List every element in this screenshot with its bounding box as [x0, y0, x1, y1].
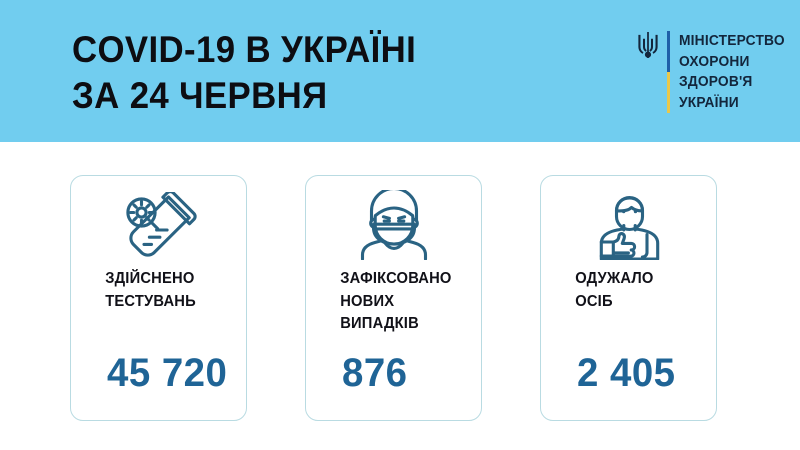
stat-cards-container: ЗДІЙСНЕНО ТЕСТУВАНЬ 45 720 — [0, 175, 800, 421]
ministry-logo: МІНІСТЕРСТВО ОХОРОНИ ЗДОРОВ'Я УКРАЇНИ — [637, 31, 790, 115]
ministry-logo-line-3: ЗДОРОВ'Я — [679, 72, 785, 93]
stat-card-tests-performed: ЗДІЙСНЕНО ТЕСТУВАНЬ 45 720 — [70, 175, 247, 421]
person-thumbs-up-icon — [541, 176, 716, 268]
test-tube-magnifier-virus-icon — [71, 176, 246, 268]
stat-label-line-1: ЗДІЙСНЕНО — [105, 268, 196, 291]
ministry-logo-line-1: МІНІСТЕРСТВО — [679, 31, 785, 52]
stat-card-label: ЗАФІКСОВАНО НОВИХ ВИПАДКІВ — [306, 268, 452, 336]
stat-label-line-2: ТЕСТУВАНЬ — [105, 291, 196, 314]
stat-card-label: ОДУЖАЛО ОСІБ — [541, 268, 654, 313]
stat-label-line-2: НОВИХ — [340, 291, 451, 314]
stat-label-line-1: ОДУЖАЛО — [575, 268, 653, 291]
ukraine-trident-icon — [637, 32, 659, 58]
ministry-logo-text: МІНІСТЕРСТВО ОХОРОНИ ЗДОРОВ'Я УКРАЇНИ — [679, 31, 790, 113]
stat-label-line-3: ВИПАДКІВ — [340, 313, 451, 336]
logo-divider-bar — [667, 31, 670, 113]
stat-card-value: 45 720 — [107, 352, 227, 394]
stat-card-label: ЗДІЙСНЕНО ТЕСТУВАНЬ — [71, 268, 196, 313]
page-title-line-1: COVID-19 В УКРАЇНІ — [72, 27, 561, 73]
page-title: COVID-19 В УКРАЇНІ ЗА 24 ЧЕРВНЯ — [72, 27, 592, 119]
stat-card-new-cases: ЗАФІКСОВАНО НОВИХ ВИПАДКІВ 876 — [305, 175, 482, 421]
stat-card-recovered: ОДУЖАЛО ОСІБ 2 405 — [540, 175, 717, 421]
stat-label-line-2: ОСІБ — [575, 291, 653, 314]
ministry-logo-line-2: ОХОРОНИ — [679, 52, 785, 73]
ministry-logo-line-4: УКРАЇНИ — [679, 93, 785, 114]
stat-card-value: 876 — [342, 352, 408, 394]
page-title-line-2: ЗА 24 ЧЕРВНЯ — [72, 73, 561, 119]
stat-card-value: 2 405 — [577, 352, 676, 394]
header-banner: COVID-19 В УКРАЇНІ ЗА 24 ЧЕРВНЯ МІНІСТЕР… — [0, 0, 800, 142]
stat-label-line-1: ЗАФІКСОВАНО — [340, 268, 451, 291]
person-face-mask-icon — [306, 176, 481, 268]
